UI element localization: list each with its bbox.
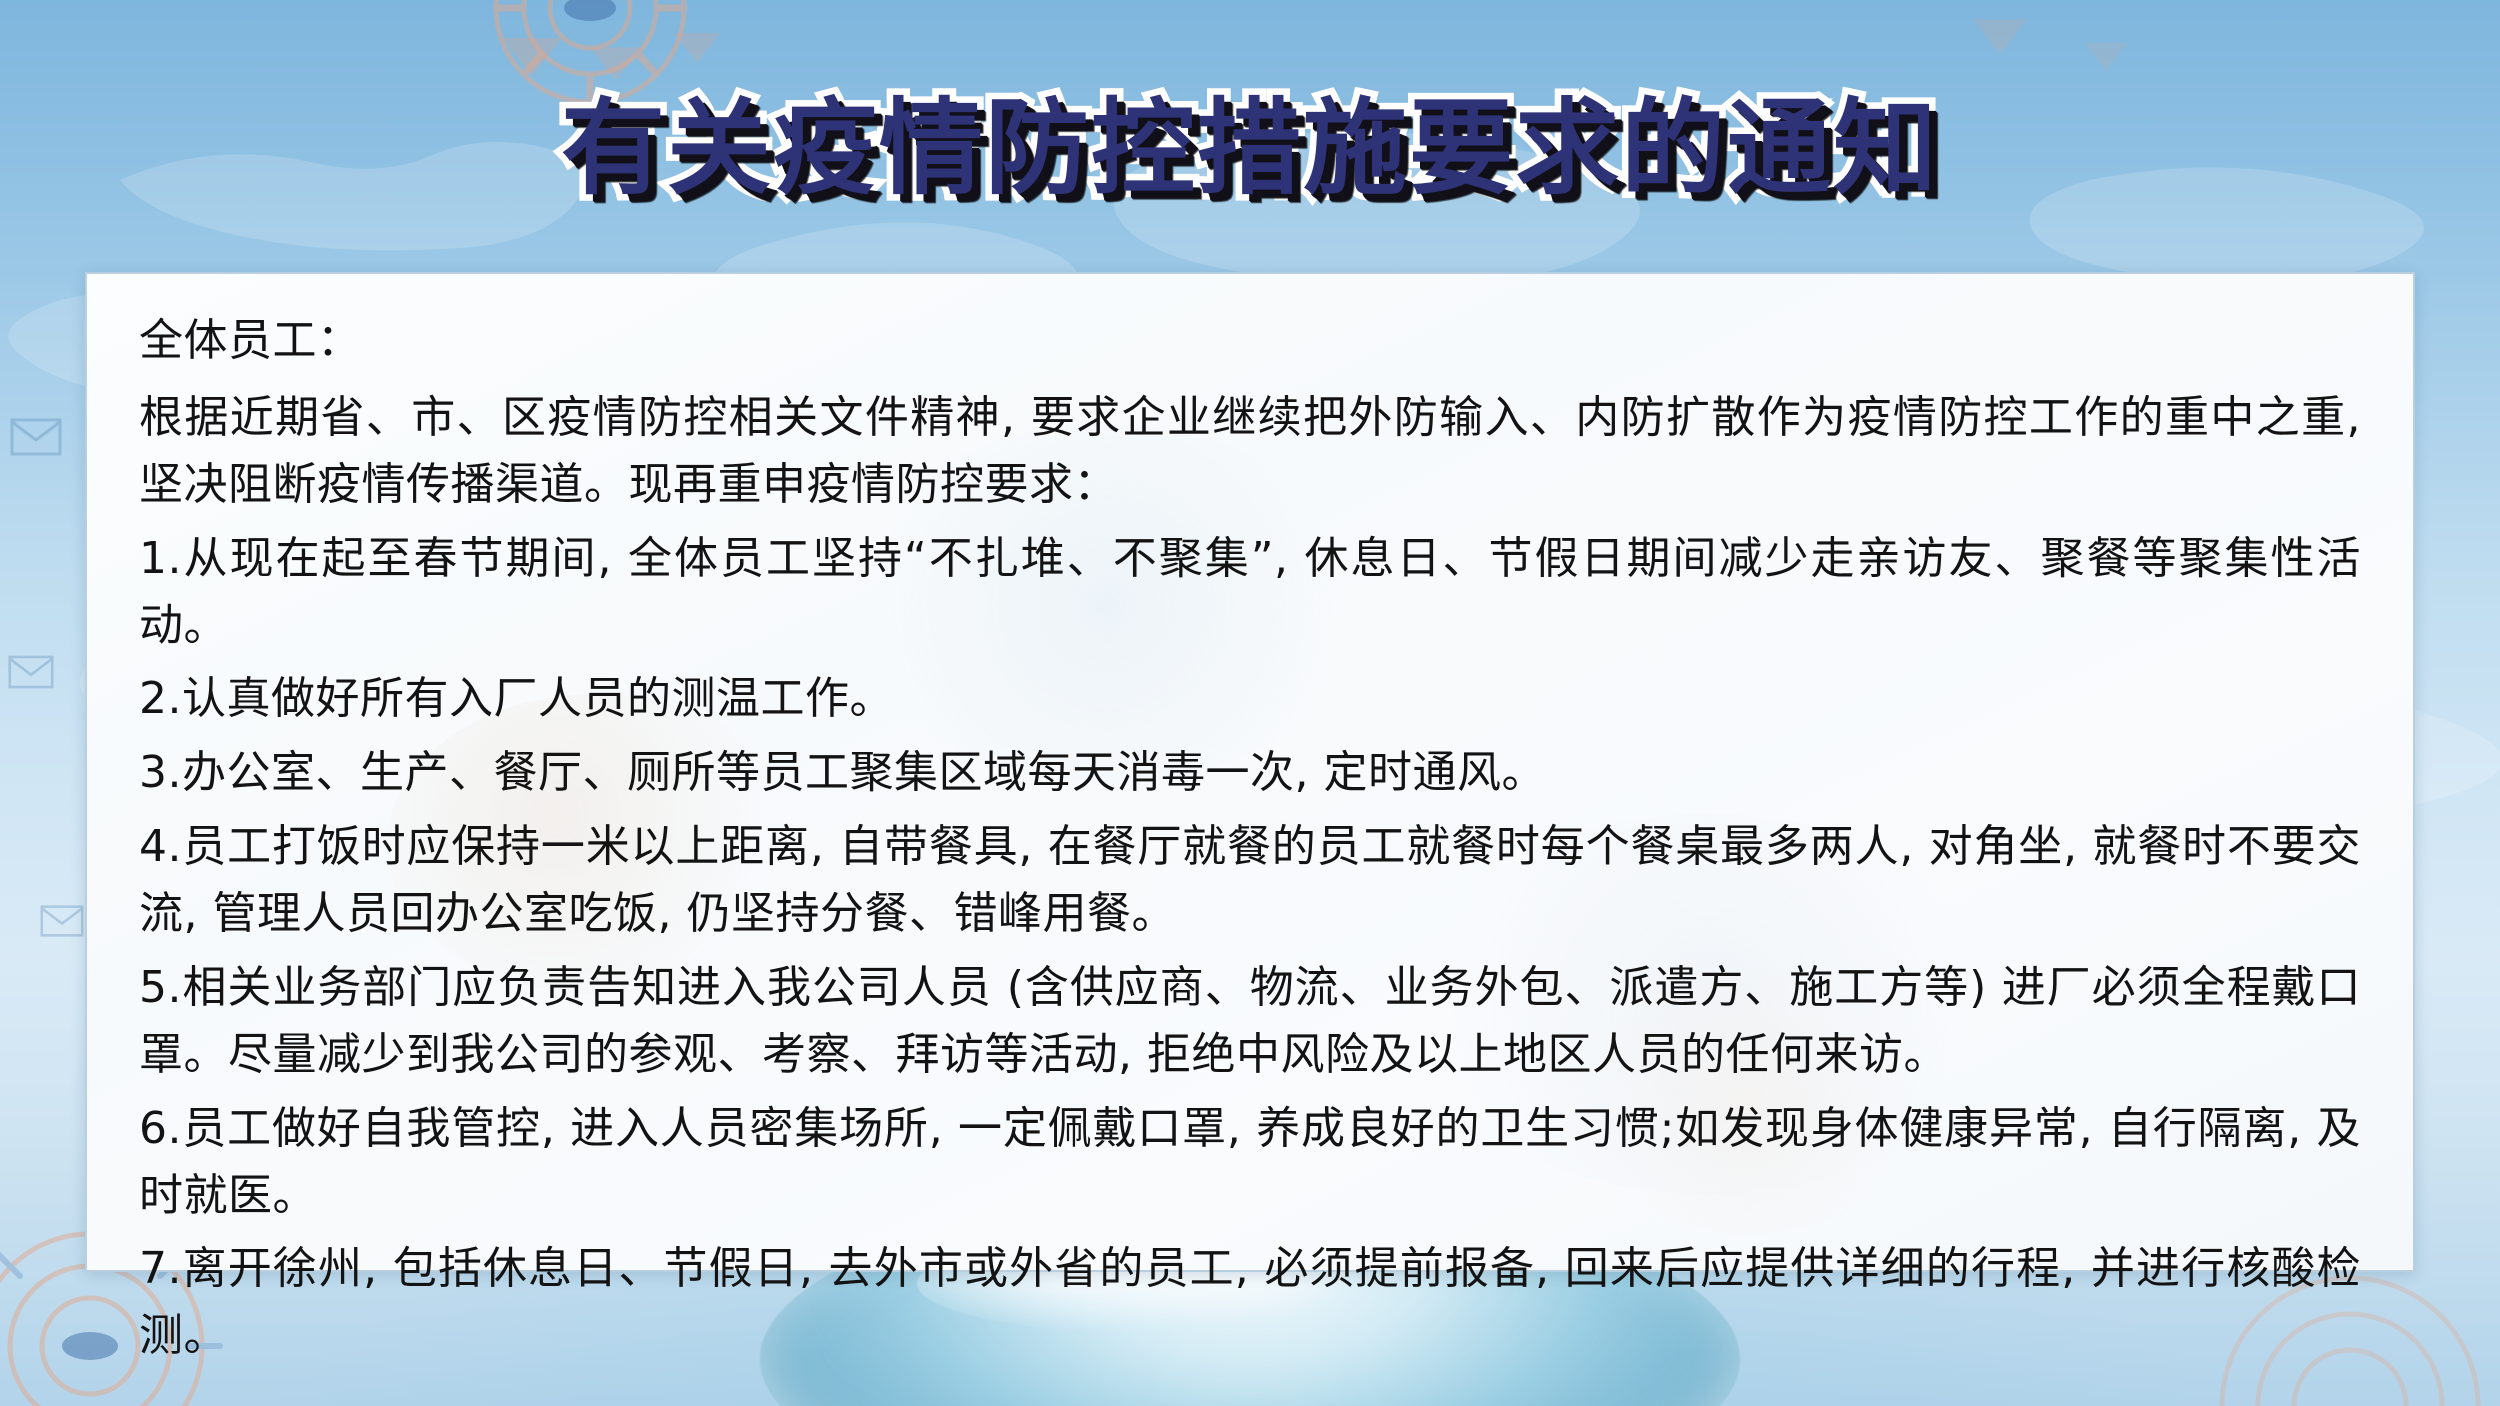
envelope-icon [8, 655, 54, 689]
envelope-icon [10, 418, 62, 456]
envelope-icon [40, 905, 84, 937]
notice-card: 全体员工： 根据近期省、市、区疫情防控相关文件精神, 要求企业继续把外防输入、内… [85, 272, 2415, 1272]
paper-plane-icon [2082, 40, 2130, 72]
notice-item-1: 1.从现在起至春节期间, 全体员工坚持“不扎堆、不聚集”, 休息日、节假日期间减… [139, 526, 2361, 660]
paper-plane-icon [1970, 16, 2030, 56]
notice-intro-paragraph: 根据近期省、市、区疫情防控相关文件精神, 要求企业继续把外防输入、内防扩散作为疫… [139, 385, 2361, 519]
notice-item-3: 3.办公室、生产、餐厅、厕所等员工聚集区域每天消毒一次, 定时通风。 [139, 740, 2361, 807]
paper-plane-icon [500, 34, 564, 78]
notice-item-2: 2.认真做好所有入厂人员的测温工作。 [139, 666, 2361, 733]
covid-notice-poster: 有关疫情防控措施要求的通知 全体员工： 根据近期省、市、区疫情防控相关文件精神,… [0, 0, 2500, 1406]
page-title: 有关疫情防控措施要求的通知 [561, 96, 1939, 200]
paper-plane-icon [672, 30, 722, 64]
notice-item-7: 7.离开徐州, 包括休息日、节假日, 去外市或外省的员工, 必须提前报备, 回来… [139, 1236, 2361, 1370]
notice-item-6: 6.员工做好自我管控, 进入人员密集场所, 一定佩戴口罩, 养成良好的卫生习惯;… [139, 1096, 2361, 1230]
notice-body: 全体员工： 根据近期省、市、区疫情防控相关文件精神, 要求企业继续把外防输入、内… [139, 308, 2361, 1370]
notice-item-4: 4.员工打饭时应保持一米以上距离, 自带餐具, 在餐厅就餐的员工就餐时每个餐桌最… [139, 814, 2361, 948]
notice-salutation: 全体员工： [139, 308, 2361, 375]
notice-item-5: 5.相关业务部门应负责告知进入我公司人员 (含供应商、物流、业务外包、派遣方、施… [139, 955, 2361, 1089]
paper-plane-icon [588, 44, 644, 82]
title-container: 有关疫情防控措施要求的通知 [0, 96, 2500, 200]
